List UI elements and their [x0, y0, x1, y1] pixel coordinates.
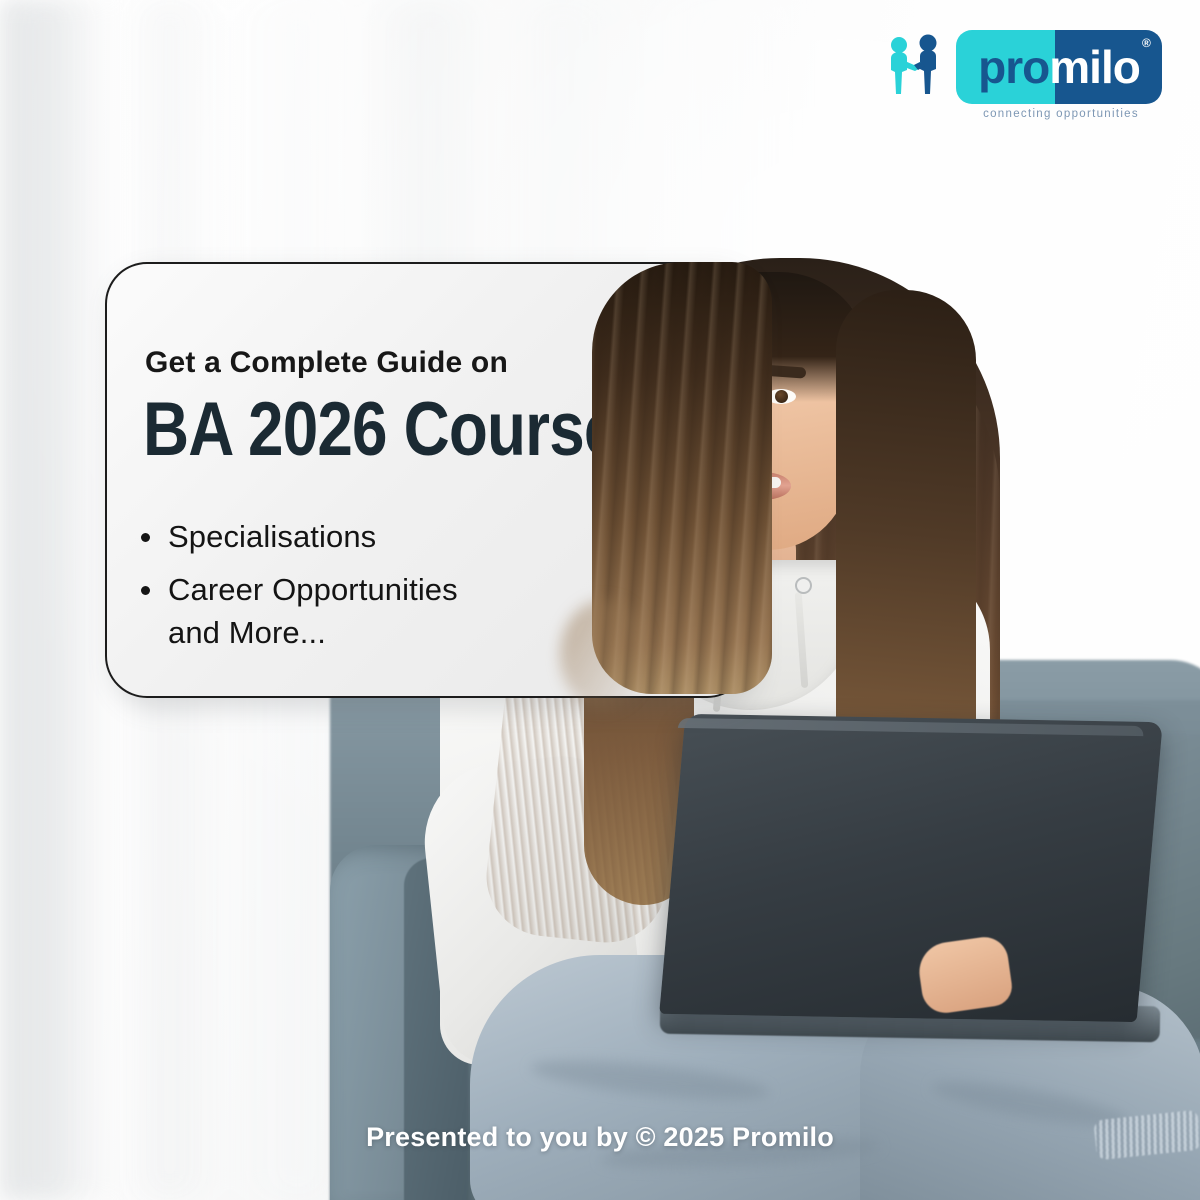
hair-soft-edge	[560, 600, 650, 710]
logo-word-milo: milo	[1049, 40, 1140, 94]
footer-credit: Presented to you by © 2025 Promilo	[0, 1122, 1200, 1153]
bullet-label: Specialisations	[168, 516, 376, 559]
handshake-people-icon	[884, 34, 946, 100]
logo-wordmark: promilo	[956, 30, 1162, 104]
bullet-label: Career Opportunities and More...	[168, 569, 458, 655]
promilo-logo[interactable]: promilo ® connecting opportunities	[884, 30, 1174, 130]
logo-tagline: connecting opportunities	[960, 108, 1162, 120]
logo-word-pro: pro	[978, 40, 1049, 94]
card-bullet-list: Specialisations Career Opportunities and…	[141, 516, 458, 664]
bullet-dot-icon	[141, 533, 150, 542]
laptop-lid	[659, 714, 1163, 1022]
list-item: Career Opportunities and More...	[141, 569, 458, 655]
bullet-dot-icon	[141, 586, 150, 595]
card-kicker: Get a Complete Guide on	[145, 346, 508, 380]
promotional-poster: Get a Complete Guide on BA 2026 Course S…	[0, 0, 1200, 1200]
iris-right	[775, 390, 788, 403]
registered-trademark-icon: ®	[1142, 36, 1151, 50]
hoodie-eyelet-right	[795, 577, 812, 594]
card-headline: BA 2026 Course	[143, 392, 619, 468]
list-item: Specialisations	[141, 516, 458, 559]
logo-wordmark-badge: promilo ®	[956, 30, 1162, 104]
